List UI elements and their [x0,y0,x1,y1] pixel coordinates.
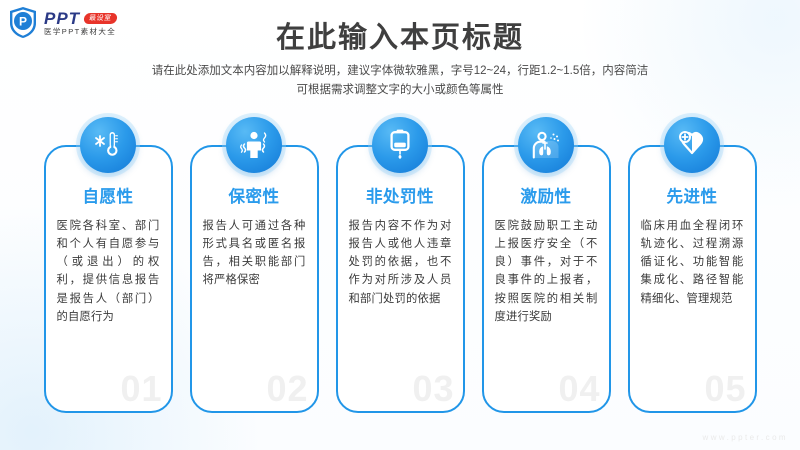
card-2[interactable]: 保密性 报告人可通过各种形式具名或匿名报告，相关职能部门将严格保密 02 [190,145,319,413]
card-body: 医院各科室、部门和个人有自愿参与（或退出）的权利，提供信息报告是报告人（部门）的… [57,217,160,327]
subtitle-line-1: 请在此处添加文本内容加以解释说明，建议字体微软雅黑，字号12~24，行距1.2~… [0,62,800,81]
page-subtitle: 请在此处添加文本内容加以解释说明，建议字体微软雅黑，字号12~24，行距1.2~… [0,62,800,100]
card-number-watermark: 05 [704,371,746,407]
card-number-watermark: 02 [266,371,308,407]
thermometer-snowflake-icon [80,117,136,173]
site-watermark: www.ppter.com [703,433,788,442]
card-body: 报告人可通过各种形式具名或匿名报告，相关职能部门将严格保密 [203,217,306,290]
card-5[interactable]: 先进性 临床用血全程闭环轨迹化、过程溯源循证化、功能智能集成化、路径智能精细化、… [628,145,757,413]
card-number-watermark: 01 [120,371,162,407]
card-number-watermark: 04 [558,371,600,407]
card-title: 非处罚性 [349,189,452,206]
subtitle-line-2: 可根据需求调整文字的大小或颜色等属性 [0,81,800,100]
card-3[interactable]: 非处罚性 报告内容不作为对报告人或他人违章处罚的依据，也不作为对所涉及人员和部门… [336,145,465,413]
card-body: 报告内容不作为对报告人或他人违章处罚的依据，也不作为对所涉及人员和部门处罚的依据 [349,217,452,308]
card-1[interactable]: 自愿性 医院各科室、部门和个人有自愿参与（或退出）的权利，提供信息报告是报告人（… [44,145,173,413]
card-row: 自愿性 医院各科室、部门和个人有自愿参与（或退出）的权利，提供信息报告是报告人（… [0,145,800,413]
card-title: 自愿性 [57,189,160,206]
card-4[interactable]: 激励性 医院鼓励职工主动上报医疗安全（不良）事件，对于不良事件的上报者，按照医院… [482,145,611,413]
card-title: 先进性 [641,189,744,206]
iv-drip-bag-icon [372,117,428,173]
patient-lungs-icon [518,117,574,173]
card-number-watermark: 03 [412,371,454,407]
card-title: 保密性 [203,189,306,206]
card-body: 临床用血全程闭环轨迹化、过程溯源循证化、功能智能集成化、路径智能精细化、管理规范 [641,217,744,308]
card-body: 医院鼓励职工主动上报医疗安全（不良）事件，对于不良事件的上报者，按照医院的相关制… [495,217,598,327]
card-title: 激励性 [495,189,598,206]
heart-plus-icon [664,117,720,173]
patient-symptoms-icon [226,117,282,173]
page-title: 在此输入本页标题 [0,14,800,56]
